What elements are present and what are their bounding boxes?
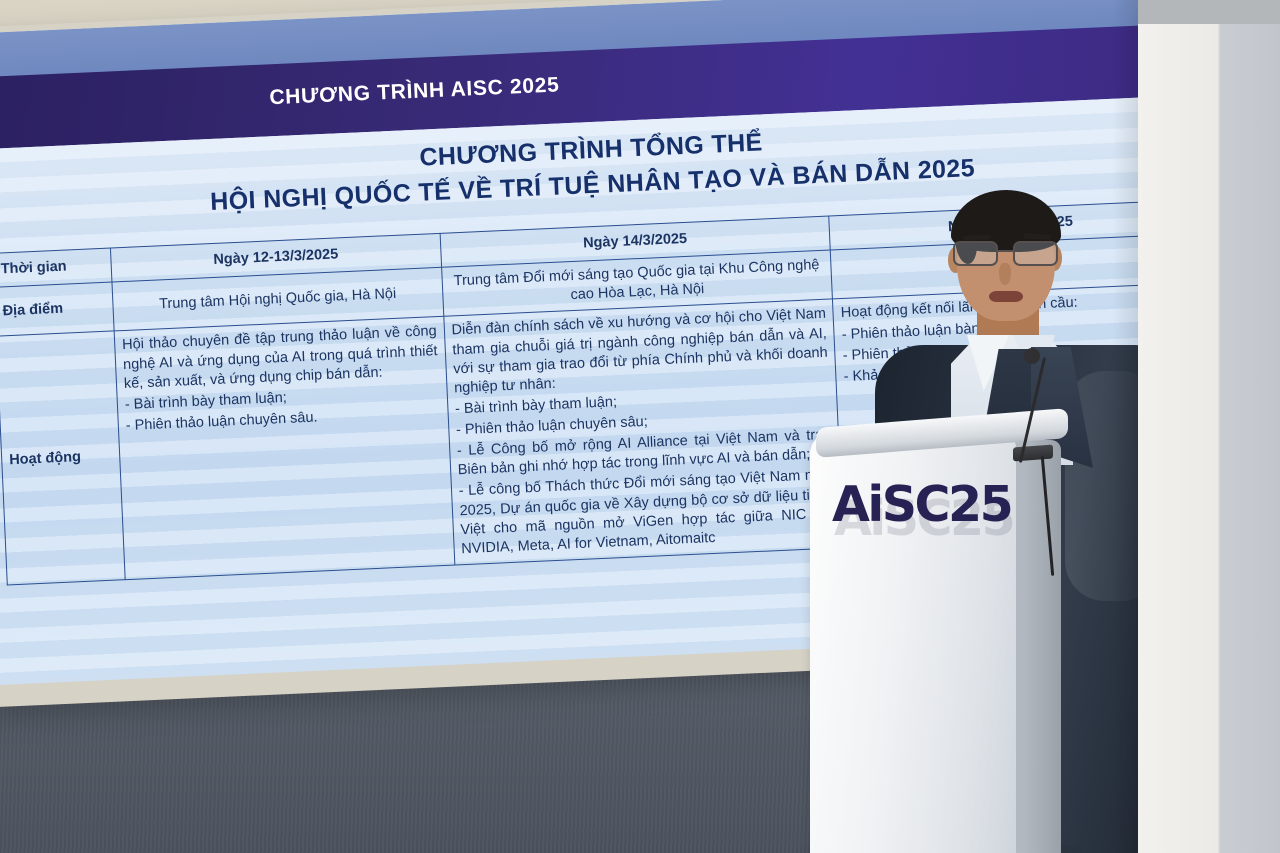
cell-activity-col1: Hội thảo chuyên đề tập trung thảo luận v… — [114, 317, 454, 580]
conference-stage-scene: CHƯƠNG TRÌNH AISC 2025 CHƯƠNG TRÌNH TỔNG… — [0, 0, 1280, 853]
podium-side-panel — [1013, 440, 1061, 853]
microphone-icon — [1024, 348, 1040, 364]
speaker-nose — [999, 263, 1011, 285]
podium-logo-aisc25: AiSC25 — [832, 476, 1011, 533]
speaker-mouth — [989, 291, 1023, 302]
row-label-place: Địa điểm — [0, 282, 114, 336]
activity-intro-col2: Diễn đàn chính sách về xu hướng và cơ hộ… — [451, 305, 829, 398]
podium-front-panel: AiSC25 AiSC25 — [810, 432, 1016, 853]
row-label-activity: Hoạt động — [0, 331, 125, 585]
pillar-shadow — [1112, 0, 1138, 853]
glasses-lens-right — [1013, 241, 1058, 266]
room-pillar — [1138, 0, 1280, 853]
speaking-podium: AiSC25 AiSC25 — [810, 418, 1110, 853]
pillar-ceiling-edge — [1138, 0, 1280, 24]
list-item: - Lễ công bố Thách thức Đổi mới sáng tạo… — [458, 466, 836, 559]
glasses-bridge — [998, 250, 1013, 252]
cell-activity-col2: Diễn đàn chính sách về xu hướng và cơ hộ… — [443, 299, 843, 565]
glasses-lens-left — [953, 241, 998, 266]
row-label-time: Thời gian — [0, 248, 112, 287]
slide-header-label: CHƯƠNG TRÌNH AISC 2025 — [269, 73, 560, 110]
activity-list-col2: - Bài trình bày tham luận; - Phiên thảo … — [455, 384, 836, 560]
